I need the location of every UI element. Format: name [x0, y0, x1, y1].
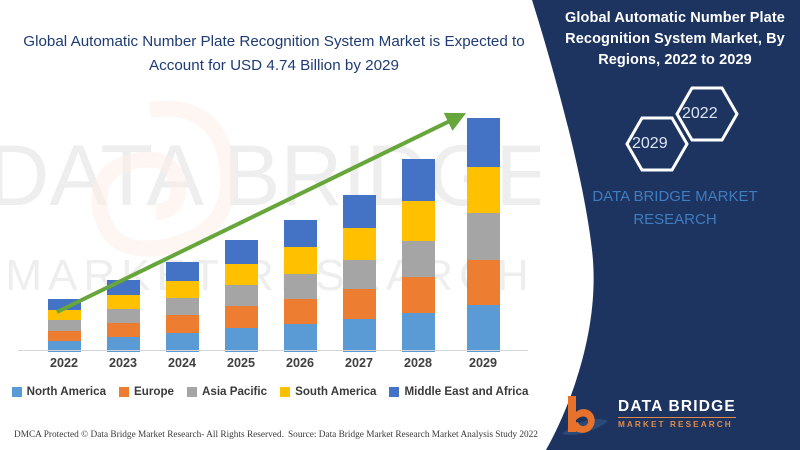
legend-item-middle-east-and-africa[interactable]: Middle East and Africa: [389, 385, 528, 398]
bar-segment-2029-south-america[interactable]: [467, 167, 500, 213]
bar-segment-2026-south-america[interactable]: [284, 247, 317, 274]
logo-name-main: DATA BRIDGE: [618, 398, 736, 416]
bar-segment-2026-middle-east-and-africa[interactable]: [284, 220, 317, 247]
bar-segment-2025-south-america[interactable]: [225, 264, 258, 285]
x-axis-label-2025: 2025: [211, 356, 271, 370]
legend-swatch-icon: [389, 387, 399, 397]
legend-swatch-icon: [12, 387, 22, 397]
panel-brand-text: DATA BRIDGE MARKET RESEARCH: [556, 186, 794, 231]
bar-segment-2028-south-america[interactable]: [402, 201, 435, 241]
bar-segment-2025-asia-pacific[interactable]: [225, 285, 258, 306]
bar-segment-2029-asia-pacific[interactable]: [467, 213, 500, 260]
panel-brand-line2: RESEARCH: [556, 209, 794, 232]
bar-2024[interactable]: [166, 262, 199, 352]
bar-segment-2027-south-america[interactable]: [343, 228, 376, 260]
bar-segment-2022-middle-east-and-africa[interactable]: [48, 299, 81, 310]
bar-segment-2025-north-america[interactable]: [225, 328, 258, 352]
bar-2028[interactable]: [402, 159, 435, 352]
legend-swatch-icon: [280, 387, 290, 397]
bar-2029[interactable]: [467, 118, 500, 352]
bar-segment-2023-europe[interactable]: [107, 323, 140, 337]
bar-segment-2026-north-america[interactable]: [284, 324, 317, 352]
legend-label: South America: [295, 385, 376, 398]
x-axis-label-2029: 2029: [453, 356, 513, 370]
footer-copyright: DMCA Protected © Data Bridge Market Rese…: [14, 430, 284, 440]
logo-mark-icon: [556, 392, 610, 438]
bar-segment-2024-middle-east-and-africa[interactable]: [166, 262, 199, 281]
bar-segment-2022-asia-pacific[interactable]: [48, 320, 81, 331]
bar-segment-2022-south-america[interactable]: [48, 310, 81, 320]
bar-segment-2028-north-america[interactable]: [402, 313, 435, 352]
bar-segment-2022-europe[interactable]: [48, 331, 81, 341]
bar-segment-2028-europe[interactable]: [402, 277, 435, 313]
logo-divider: [618, 417, 736, 418]
bar-segment-2028-middle-east-and-africa[interactable]: [402, 159, 435, 201]
bar-segment-2023-asia-pacific[interactable]: [107, 309, 140, 323]
x-axis-line: [18, 350, 528, 351]
panel-brand-line1: DATA BRIDGE MARKET: [556, 186, 794, 209]
bar-2023[interactable]: [107, 280, 140, 352]
x-axis-label-2023: 2023: [93, 356, 153, 370]
bar-segment-2029-europe[interactable]: [467, 260, 500, 305]
infographic-canvas: DATA BRIDGE MARKET RESEARCH Global Autom…: [0, 0, 800, 450]
x-axis-label-2028: 2028: [388, 356, 448, 370]
bar-segment-2028-asia-pacific[interactable]: [402, 241, 435, 277]
legend-swatch-icon: [119, 387, 129, 397]
logo-name-sub: MARKET RESEARCH: [618, 420, 733, 429]
chart-legend: North AmericaEuropeAsia PacificSouth Ame…: [10, 385, 530, 398]
x-axis-label-2027: 2027: [329, 356, 389, 370]
x-axis-label-2022: 2022: [34, 356, 94, 370]
bar-segment-2027-asia-pacific[interactable]: [343, 260, 376, 289]
bar-segment-2027-middle-east-and-africa[interactable]: [343, 195, 376, 228]
bar-2025[interactable]: [225, 240, 258, 352]
bar-segment-2023-middle-east-and-africa[interactable]: [107, 280, 140, 295]
legend-label: Europe: [134, 385, 174, 398]
hexagon-label-2029: 2029: [632, 135, 668, 153]
bar-segment-2024-europe[interactable]: [166, 315, 199, 333]
logo: DATA BRIDGE MARKET RESEARCH: [556, 392, 786, 438]
bar-segment-2027-europe[interactable]: [343, 289, 376, 319]
legend-item-europe[interactable]: Europe: [119, 385, 174, 398]
bar-segment-2029-north-america[interactable]: [467, 305, 500, 352]
footer-source: Source: Data Bridge Market Research Mark…: [288, 430, 538, 440]
legend-label: North America: [27, 385, 106, 398]
legend-item-north-america[interactable]: North America: [12, 385, 106, 398]
bar-2022[interactable]: [48, 299, 81, 352]
bar-segment-2024-asia-pacific[interactable]: [166, 298, 199, 315]
bar-segment-2029-middle-east-and-africa[interactable]: [467, 118, 500, 167]
page-title: Global Automatic Number Plate Recognitio…: [18, 30, 530, 77]
hexagon-group: [606, 84, 756, 194]
bar-segment-2025-europe[interactable]: [225, 306, 258, 328]
bar-segment-2027-north-america[interactable]: [343, 319, 376, 352]
legend-swatch-icon: [187, 387, 197, 397]
legend-item-south-america[interactable]: South America: [280, 385, 376, 398]
bar-segment-2023-south-america[interactable]: [107, 295, 140, 309]
legend-label: Middle East and Africa: [404, 385, 528, 398]
bar-2027[interactable]: [343, 195, 376, 352]
bar-segment-2024-south-america[interactable]: [166, 281, 199, 298]
x-axis-label-2024: 2024: [152, 356, 212, 370]
bar-segment-2026-europe[interactable]: [284, 299, 317, 324]
bar-2026[interactable]: [284, 220, 317, 352]
legend-label: Asia Pacific: [202, 385, 267, 398]
x-axis-label-2026: 2026: [270, 356, 330, 370]
bar-chart-plot: [0, 100, 540, 352]
hexagon-label-2022: 2022: [682, 105, 718, 123]
bar-segment-2025-middle-east-and-africa[interactable]: [225, 240, 258, 264]
panel-title: Global Automatic Number Plate Recognitio…: [556, 8, 794, 71]
legend-item-asia-pacific[interactable]: Asia Pacific: [187, 385, 267, 398]
bar-segment-2026-asia-pacific[interactable]: [284, 274, 317, 299]
